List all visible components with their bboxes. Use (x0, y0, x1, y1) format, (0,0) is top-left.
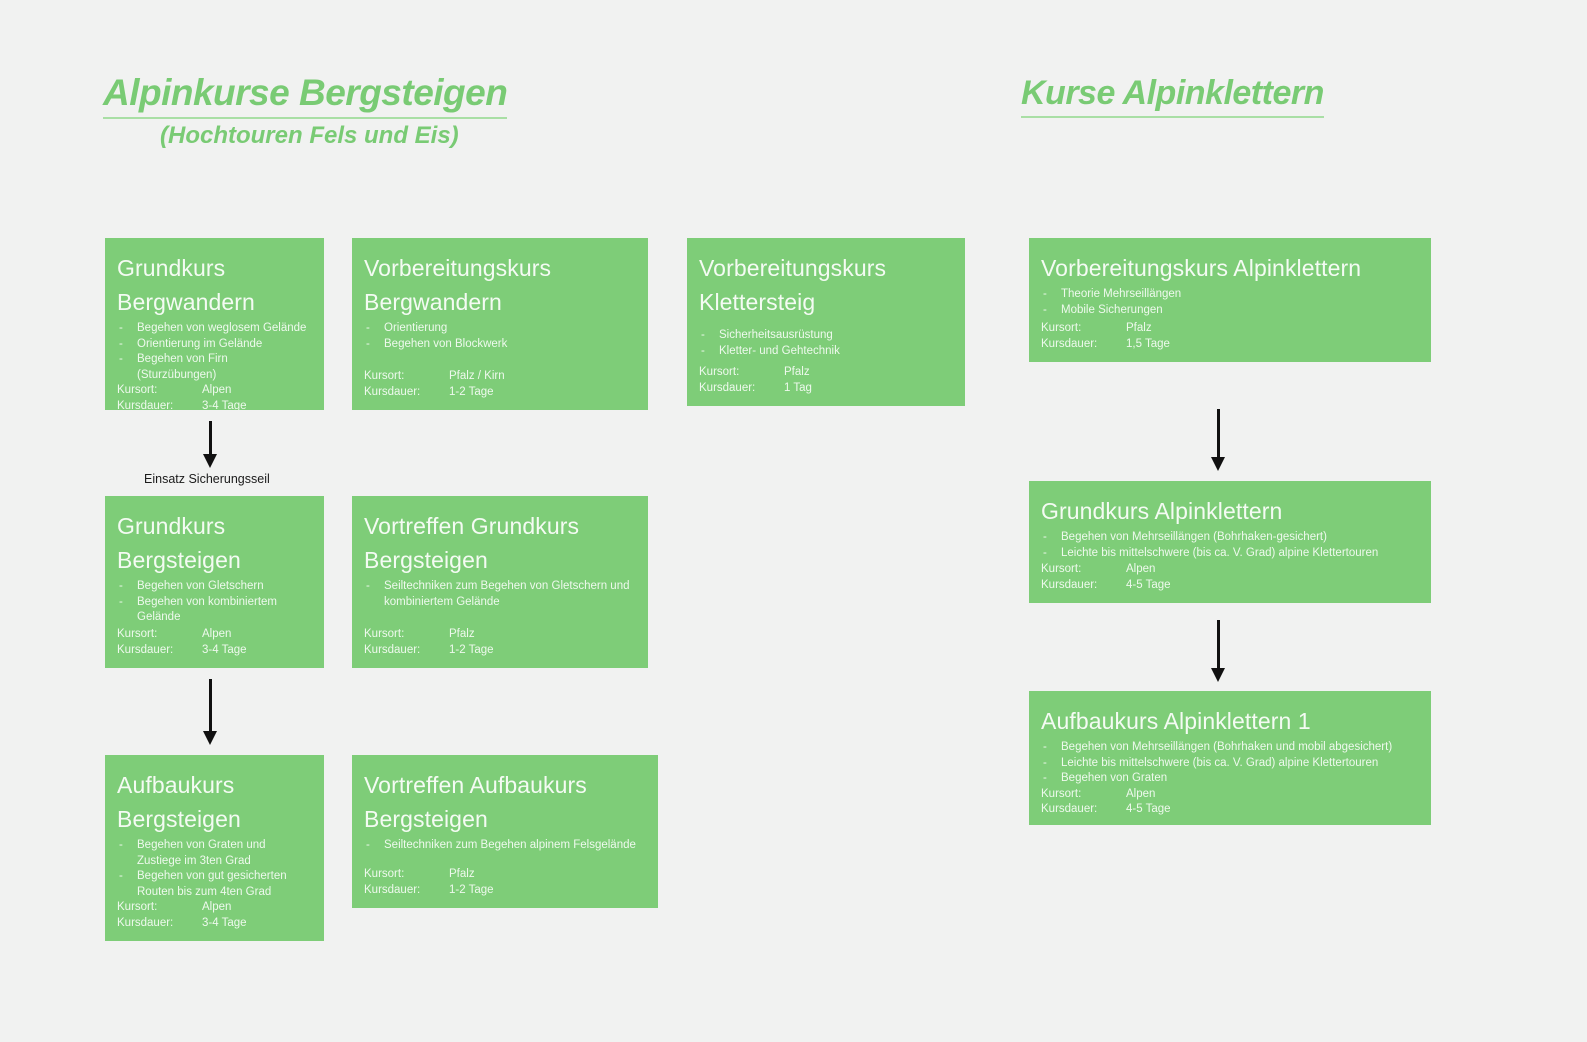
kursort-value: Pfalz (1126, 321, 1152, 337)
card-meta: Kursort:Pfalz Kursdauer:1,5 Tage (1041, 321, 1415, 352)
meta-row-kursdauer: Kursdauer:4-5 Tage (1041, 578, 1415, 594)
arrow-shaft (1217, 409, 1220, 457)
card-bullet-list: -Seiltechniken zum Begehen von Gletscher… (364, 579, 632, 610)
bullet-dash-icon: - (1043, 771, 1047, 787)
meta-row-kursort: Kursort:Alpen (1041, 787, 1415, 803)
meta-row-kursort: Kursort:Alpen (117, 900, 308, 916)
kursort-label: Kursort: (1041, 321, 1126, 337)
kursdauer-value: 4-5 Tage (1126, 802, 1171, 818)
arrow-head (1211, 457, 1225, 471)
arrow-head (203, 454, 217, 468)
kursdauer-label: Kursdauer: (117, 399, 202, 411)
kursdauer-label: Kursdauer: (364, 385, 449, 401)
bullet-dash-icon: - (119, 579, 123, 595)
kursdauer-value: 3-4 Tage (202, 643, 247, 659)
list-item: -Begehen von Firn (Sturzübungen) (117, 352, 308, 383)
kursdauer-label: Kursdauer: (117, 916, 202, 932)
card-meta: Kursort:Pfalz / Kirn Kursdauer:1-2 Tage (364, 369, 632, 400)
card-meta: Kursort:Alpen Kursdauer:3-4 Tage (117, 627, 308, 658)
card-vorbereitungskurs-klettersteig[interactable]: Vorbereitungskurs Klettersteig -Sicherhe… (687, 238, 965, 406)
arrow-down-icon-grundkurs-to-aufbaukurs-bergsteigen (196, 679, 224, 745)
meta-row-kursort: Kursort:Pfalz (364, 867, 642, 883)
kursdauer-label: Kursdauer: (364, 643, 449, 659)
card-meta: Kursort:Pfalz Kursdauer:1 Tag (699, 365, 949, 396)
card-title: Aufbaukurs Alpinklettern 1 (1041, 704, 1415, 738)
heading-left-subtitle: (Hochtouren Fels und Eis) (160, 122, 459, 150)
meta-row-kursdauer: Kursdauer:1,5 Tage (1041, 337, 1415, 353)
kursdauer-label: Kursdauer: (699, 381, 784, 397)
kursdauer-label: Kursdauer: (1041, 337, 1126, 353)
kursdauer-label: Kursdauer: (117, 643, 202, 659)
connector-label-einsatz-sicherungsseil: Einsatz Sicherungsseil (144, 472, 270, 486)
kursort-label: Kursort: (364, 369, 449, 385)
card-title: Vortreffen Grundkurs Bergsteigen (364, 509, 632, 577)
meta-row-kursort: Kursort:Pfalz (1041, 321, 1415, 337)
kursort-label: Kursort: (1041, 562, 1126, 578)
list-item: -Kletter- und Gehtechnik (699, 344, 949, 360)
meta-row-kursort: Kursort:Alpen (117, 627, 308, 643)
meta-row-kursort: Kursort:Alpen (1041, 562, 1415, 578)
card-vortreffen-aufbaukurs-bergsteigen[interactable]: Vortreffen Aufbaukurs Bergsteigen -Seilt… (352, 755, 658, 908)
meta-row-kursdauer: Kursdauer:1 Tag (699, 381, 949, 397)
meta-row-kursort: Kursort:Pfalz / Kirn (364, 369, 632, 385)
arrow-down-icon-grundkurs-to-aufbaukurs-alpinklettern (1204, 620, 1232, 682)
list-item: -Seiltechniken zum Begehen alpinem Felsg… (364, 838, 642, 854)
card-bullet-list: -Begehen von Graten und Zustiege im 3ten… (117, 838, 308, 900)
bullet-dash-icon: - (119, 595, 123, 611)
card-title: Grundkurs Bergsteigen (117, 509, 308, 577)
card-title: Vorbereitungskurs Bergwandern (364, 251, 632, 319)
kursort-value: Alpen (202, 383, 231, 399)
card-aufbaukurs-alpinklettern-1[interactable]: Aufbaukurs Alpinklettern 1 -Begehen von … (1029, 691, 1431, 825)
meta-row-kursdauer: Kursdauer:1-2 Tage (364, 385, 632, 401)
arrow-shaft (209, 421, 212, 454)
kursdauer-value: 1-2 Tage (449, 385, 494, 401)
bullet-dash-icon: - (1043, 287, 1047, 303)
bullet-dash-icon: - (701, 328, 705, 344)
card-bullet-list: -Begehen von Mehrseillängen (Bohrhaken u… (1041, 740, 1415, 787)
list-item: -Orientierung im Gelände (117, 337, 308, 353)
list-item: -Begehen von Mehrseillängen (Bohrhaken-g… (1041, 530, 1415, 546)
bullet-dash-icon: - (119, 869, 123, 885)
card-vorbereitungskurs-bergwandern[interactable]: Vorbereitungskurs Bergwandern -Orientier… (352, 238, 648, 410)
kursort-label: Kursort: (117, 383, 202, 399)
bullet-dash-icon: - (119, 321, 123, 337)
card-meta: Kursort:Pfalz Kursdauer:1-2 Tage (364, 627, 632, 658)
list-item: -Begehen von kombiniertem Gelände (117, 595, 308, 626)
bullet-dash-icon: - (1043, 740, 1047, 756)
list-item: -Begehen von gut gesicherten Routen bis … (117, 869, 308, 900)
card-meta: Kursort:Alpen Kursdauer:3-4 Tage (117, 383, 308, 410)
kursort-value: Pfalz (784, 365, 810, 381)
kursdauer-value: 4-5 Tage (1126, 578, 1171, 594)
list-item: -Begehen von Gletschern (117, 579, 308, 595)
card-meta: Kursort:Alpen Kursdauer:3-4 Tage (117, 900, 308, 931)
card-bullet-list: -Seiltechniken zum Begehen alpinem Felsg… (364, 838, 642, 854)
kursort-value: Pfalz (449, 867, 475, 883)
arrow-head (1211, 668, 1225, 682)
card-bullet-list: -Begehen von Gletschern -Begehen von kom… (117, 579, 308, 626)
list-item: -Sicherheitsausrüstung (699, 328, 949, 344)
meta-row-kursdauer: Kursdauer:4-5 Tage (1041, 802, 1415, 818)
kursdauer-label: Kursdauer: (1041, 802, 1126, 818)
kursort-label: Kursort: (117, 900, 202, 916)
bullet-dash-icon: - (366, 838, 370, 854)
card-vortreffen-grundkurs-bergsteigen[interactable]: Vortreffen Grundkurs Bergsteigen -Seilte… (352, 496, 648, 668)
list-item: -Leichte bis mittelschwere (bis ca. V. G… (1041, 546, 1415, 562)
card-meta: Kursort:Alpen Kursdauer:4-5 Tage (1041, 562, 1415, 593)
card-title: Grundkurs Bergwandern (117, 251, 308, 319)
kursdauer-label: Kursdauer: (1041, 578, 1126, 594)
card-bullet-list: -Begehen von weglosem Gelände -Orientier… (117, 321, 308, 383)
kursdauer-label: Kursdauer: (364, 883, 449, 899)
bullet-dash-icon: - (366, 579, 370, 595)
list-item: -Theorie Mehrseillängen (1041, 287, 1415, 303)
heading-kurse-alpinklettern: Kurse Alpinklettern (1021, 74, 1324, 118)
meta-row-kursdauer: Kursdauer:3-4 Tage (117, 399, 308, 411)
arrow-down-icon-bergwandern-to-bergsteigen (196, 421, 224, 468)
arrow-shaft (1217, 620, 1220, 668)
arrow-down-icon-vorbereitung-to-grundkurs-alpinklettern (1204, 409, 1232, 471)
card-grundkurs-bergsteigen[interactable]: Grundkurs Bergsteigen -Begehen von Glets… (105, 496, 324, 668)
card-title: Grundkurs Alpinklettern (1041, 494, 1415, 528)
card-bullet-list: -Begehen von Mehrseillängen (Bohrhaken-g… (1041, 530, 1415, 561)
heading-alpinkurse-bergsteigen: Alpinkurse Bergsteigen (103, 72, 507, 119)
card-aufbaukurs-bergsteigen[interactable]: Aufbaukurs Bergsteigen -Begehen von Grat… (105, 755, 324, 941)
bullet-dash-icon: - (1043, 303, 1047, 319)
bullet-dash-icon: - (119, 838, 123, 854)
kursort-value: Alpen (1126, 787, 1155, 803)
kursdauer-value: 3-4 Tage (202, 399, 247, 411)
card-bullet-list: -Theorie Mehrseillängen -Mobile Sicherun… (1041, 287, 1415, 318)
kursort-label: Kursort: (364, 627, 449, 643)
diagram-canvas: Alpinkurse Bergsteigen (Hochtouren Fels … (0, 0, 1587, 1042)
card-grundkurs-bergwandern[interactable]: Grundkurs Bergwandern -Begehen von weglo… (105, 238, 324, 410)
kursort-value: Pfalz / Kirn (449, 369, 505, 385)
kursdauer-value: 1-2 Tage (449, 643, 494, 659)
card-title: Vorbereitungskurs Alpinklettern (1041, 251, 1415, 285)
meta-row-kursort: Kursort:Alpen (117, 383, 308, 399)
kursort-label: Kursort: (699, 365, 784, 381)
bullet-dash-icon: - (366, 321, 370, 337)
list-item: -Seiltechniken zum Begehen von Gletscher… (364, 579, 632, 610)
list-item: -Begehen von Graten (1041, 771, 1415, 787)
kursort-value: Alpen (202, 900, 231, 916)
list-item: -Mobile Sicherungen (1041, 303, 1415, 319)
bullet-dash-icon: - (119, 352, 123, 368)
meta-row-kursort: Kursort:Pfalz (364, 627, 632, 643)
card-meta: Kursort:Alpen Kursdauer:4-5 Tage (1041, 787, 1415, 818)
meta-row-kursort: Kursort:Pfalz (699, 365, 949, 381)
list-item: -Begehen von Mehrseillängen (Bohrhaken u… (1041, 740, 1415, 756)
kursdauer-value: 3-4 Tage (202, 916, 247, 932)
kursort-value: Pfalz (449, 627, 475, 643)
kursdauer-value: 1 Tag (784, 381, 812, 397)
meta-row-kursdauer: Kursdauer:3-4 Tage (117, 916, 308, 932)
bullet-dash-icon: - (366, 337, 370, 353)
bullet-dash-icon: - (1043, 756, 1047, 772)
card-meta: Kursort:Pfalz Kursdauer:1-2 Tage (364, 867, 642, 898)
card-bullet-list: -Sicherheitsausrüstung -Kletter- und Geh… (699, 328, 949, 359)
meta-row-kursdauer: Kursdauer:1-2 Tage (364, 883, 642, 899)
kursort-label: Kursort: (364, 867, 449, 883)
arrow-shaft (209, 679, 212, 731)
card-title: Aufbaukurs Bergsteigen (117, 768, 308, 836)
heading-right-text: Kurse Alpinklettern (1021, 74, 1324, 118)
card-grundkurs-alpinklettern[interactable]: Grundkurs Alpinklettern -Begehen von Meh… (1029, 481, 1431, 603)
kursort-label: Kursort: (1041, 787, 1126, 803)
bullet-dash-icon: - (119, 337, 123, 353)
kursort-label: Kursort: (117, 627, 202, 643)
list-item: -Orientierung (364, 321, 632, 337)
kursort-value: Alpen (1126, 562, 1155, 578)
arrow-head (203, 731, 217, 745)
list-item: -Leichte bis mittelschwere (bis ca. V. G… (1041, 756, 1415, 772)
kursdauer-value: 1-2 Tage (449, 883, 494, 899)
card-title: Vortreffen Aufbaukurs Bergsteigen (364, 768, 642, 836)
list-item: -Begehen von weglosem Gelände (117, 321, 308, 337)
meta-row-kursdauer: Kursdauer:1-2 Tage (364, 643, 632, 659)
card-vorbereitungskurs-alpinklettern[interactable]: Vorbereitungskurs Alpinklettern -Theorie… (1029, 238, 1431, 362)
bullet-dash-icon: - (1043, 546, 1047, 562)
meta-row-kursdauer: Kursdauer:3-4 Tage (117, 643, 308, 659)
kursdauer-value: 1,5 Tage (1126, 337, 1170, 353)
kursort-value: Alpen (202, 627, 231, 643)
bullet-dash-icon: - (701, 344, 705, 360)
card-title: Vorbereitungskurs Klettersteig (699, 251, 949, 319)
heading-left-text: Alpinkurse Bergsteigen (103, 72, 507, 119)
card-bullet-list: -Orientierung -Begehen von Blockwerk (364, 321, 632, 352)
list-item: -Begehen von Graten und Zustiege im 3ten… (117, 838, 308, 869)
list-item: -Begehen von Blockwerk (364, 337, 632, 353)
bullet-dash-icon: - (1043, 530, 1047, 546)
